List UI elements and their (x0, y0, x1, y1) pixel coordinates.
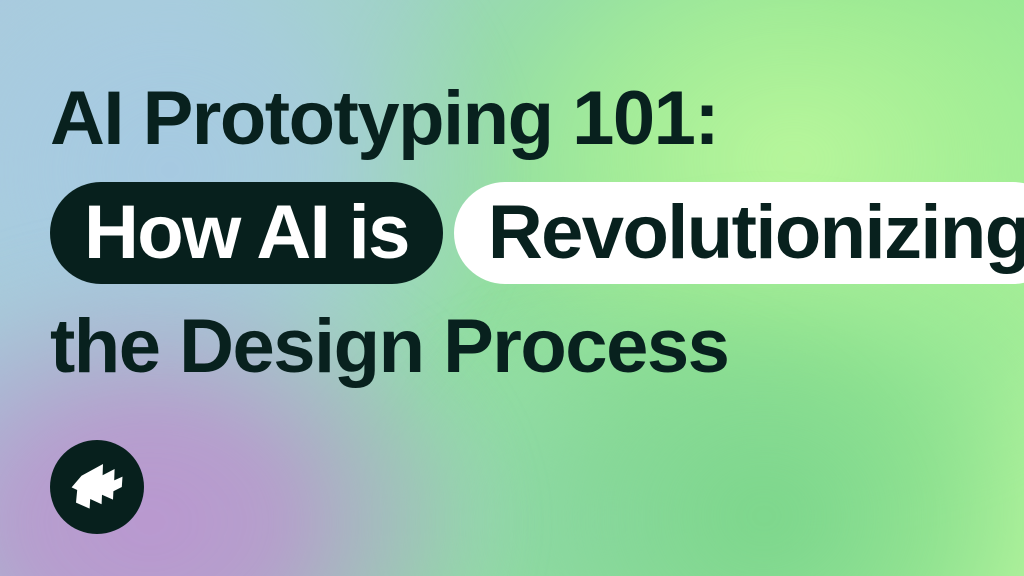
headline-pill-light: Revolutionizing (454, 182, 1024, 284)
headline-line-1: AI Prototyping 101: (50, 78, 1010, 160)
social-card-canvas: AI Prototyping 101: How AI is Revolution… (0, 0, 1024, 576)
headline-line-3: the Design Process (50, 306, 1010, 388)
headline-pill-light-text: Revolutionizing (488, 195, 1024, 271)
lightning-bolt-icon (69, 461, 125, 513)
brand-logo-badge (50, 440, 144, 534)
headline-line-2: How AI is Revolutionizing (50, 182, 1010, 284)
headline-line-3-text: the Design Process (50, 309, 728, 385)
headline-block: AI Prototyping 101: How AI is Revolution… (50, 78, 1010, 388)
headline-pill-dark-text: How AI is (84, 195, 409, 271)
headline-pill-dark: How AI is (50, 182, 443, 284)
headline-line-1-text: AI Prototyping 101: (50, 81, 718, 157)
